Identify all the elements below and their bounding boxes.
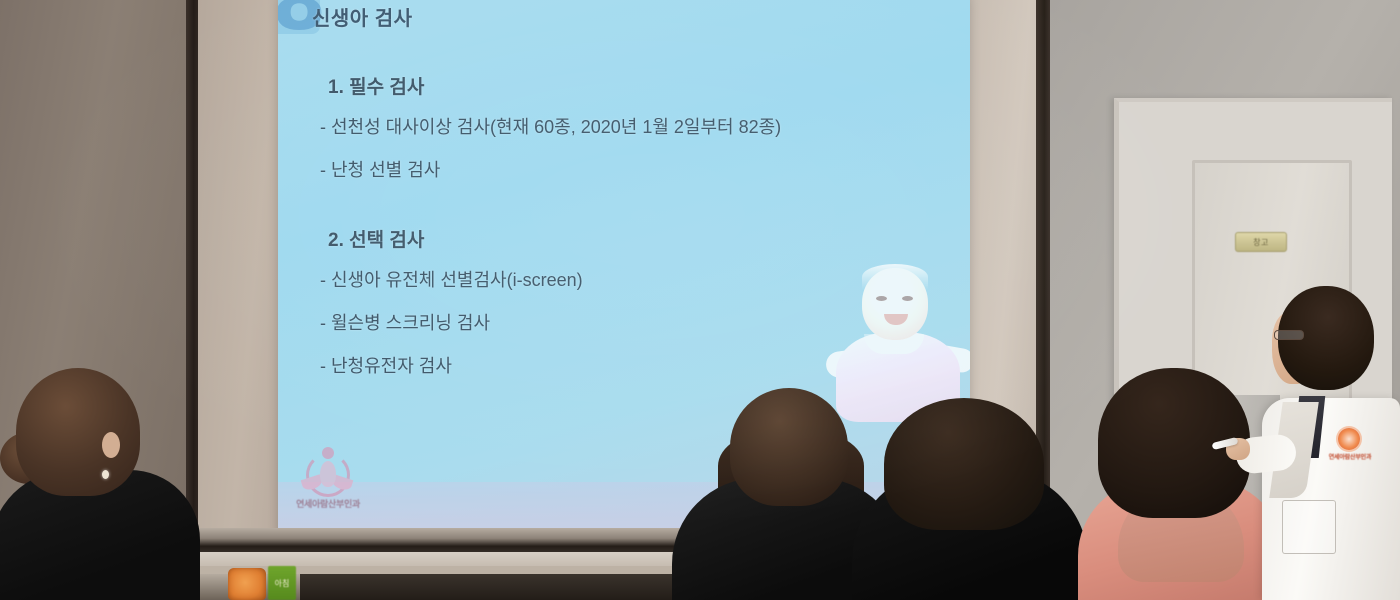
- projection-screen: 8 신생아 검사 1. 필수 검사 - 선천성 대사이상 검사(현재 60종, …: [278, 0, 970, 536]
- glasses-icon: [1274, 330, 1304, 340]
- clinic-logo-icon: [300, 447, 356, 495]
- logo-dot-shape: [322, 447, 334, 459]
- wall-beige-left: [198, 0, 282, 580]
- section-1-heading: 1. 필수 검사: [328, 72, 920, 99]
- clinic-logo-caption: 연세아람산부인과: [296, 497, 360, 510]
- attendee-left-ear: [102, 432, 120, 458]
- attendee-left-head: [16, 368, 140, 496]
- section-1-item-1: - 선천성 대사이상 검사(현재 60종, 2020년 1월 2일부터 82종): [320, 113, 920, 139]
- baby-eye-right: [902, 296, 913, 301]
- clinic-logo: 연세아람산부인과: [296, 447, 360, 510]
- attendee-center-right-head: [884, 398, 1044, 530]
- snack-green: 아침: [268, 566, 296, 600]
- section-spacer: [320, 199, 920, 225]
- section-1-item-2: - 난청 선별 검사: [320, 156, 920, 182]
- presentation-slide: 8 신생아 검사 1. 필수 검사 - 선천성 대사이상 검사(현재 60종, …: [278, 0, 970, 536]
- door-nameplate: 창고: [1235, 232, 1287, 252]
- logo-petal-shape: [320, 461, 336, 487]
- presenter-pocket: [1282, 500, 1336, 554]
- baby-photo: [826, 262, 970, 422]
- seminar-room-scene: 창고 8 신생아 검사 1. 필수 검사 - 선천성 대사이상 검사(현재 60…: [0, 0, 1400, 600]
- attendee-left-earring: [102, 470, 109, 479]
- baby-eye-left: [876, 296, 887, 301]
- section-2-heading: 2. 선택 검사: [328, 225, 920, 252]
- slide-title: 신생아 검사: [312, 2, 413, 31]
- baby-hair: [862, 264, 928, 290]
- table-shadow: [300, 574, 700, 600]
- attendee-center-head: [730, 388, 848, 506]
- snack-orange: [228, 568, 266, 600]
- presenter-badge-icon: [1338, 428, 1360, 450]
- presenter-badge-text: 연세아람산부인과: [1326, 452, 1374, 461]
